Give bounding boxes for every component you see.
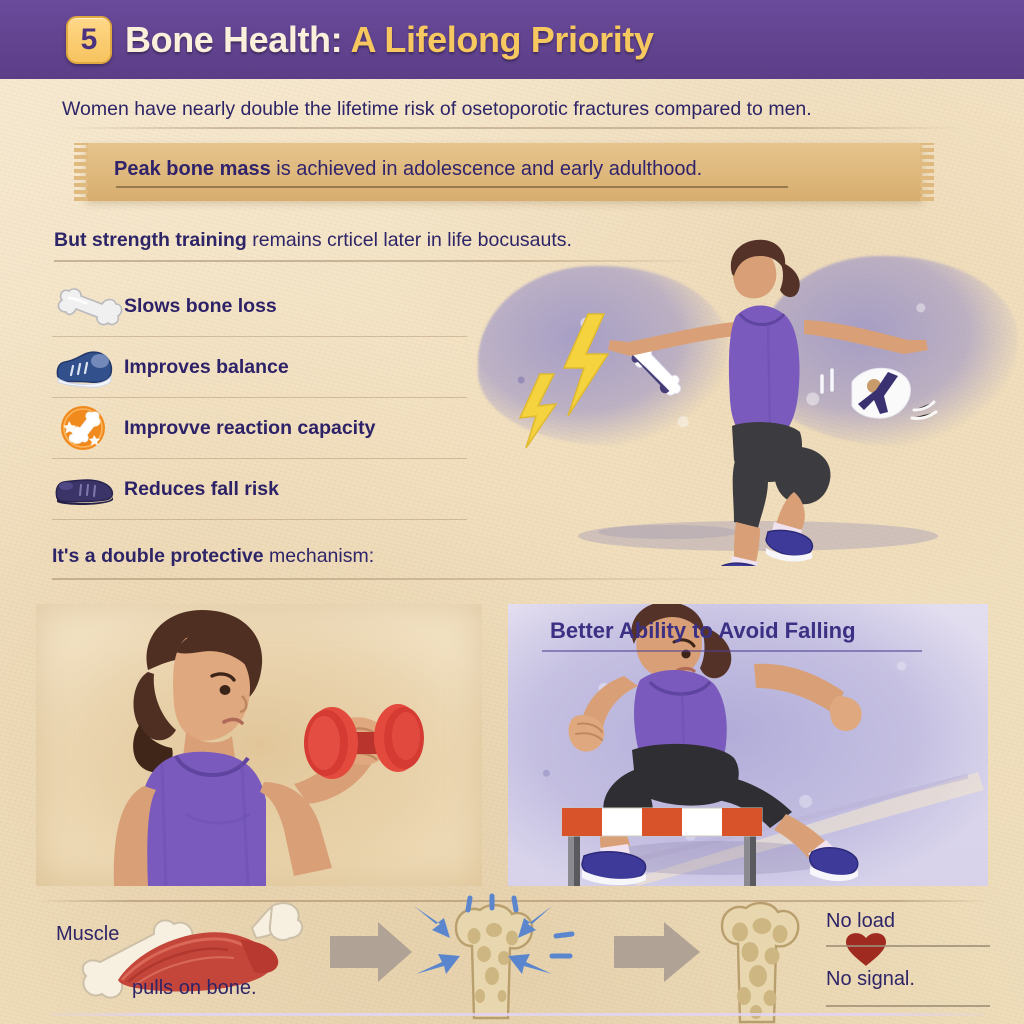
highlight-rest: is achieved in adolescence and early adu… [271,158,702,180]
bolt-icon-2 [520,374,556,448]
list-item: Slows bone loss [52,276,467,337]
no-load-label: No load [826,910,895,933]
list-item-label: Improves balance [124,356,289,379]
mechanism-divider [52,578,752,580]
mechanism-rest: mechanism: [264,545,375,567]
section-number-badge: 5 [66,16,112,64]
infographic-poster: 5 Bone Health: A Lifelong Priority Women… [0,0,1024,1024]
list-item: Improves balance [52,337,467,398]
list-item-label: Improvve reaction capacity [124,417,375,440]
porous-bone-illustration [722,903,798,1022]
dumbbell-illustration-panel [36,604,482,886]
title-secondary: A Lifelong Priority [351,19,654,60]
hurdle-panel-title-rule [542,650,922,652]
benefits-list: Slows bone loss Improves balance [52,276,467,520]
lead-rest: remains crticel later in life bocusauts. [247,229,572,251]
mechanism-flow-strip: Muscle pulls on bone. No load No signal. [0,900,1024,1024]
bolt-icon [564,314,608,416]
list-item: Improvve reaction capacity [52,398,467,459]
intro-divider [62,127,962,129]
balance-figure [468,236,1024,566]
flow-arrow-1 [330,922,412,982]
balance-illustration-panel [468,236,1024,566]
heart-icon [846,933,886,966]
highlight-bold: Peak bone mass [114,158,271,180]
lead-statement: But strength training remains crticel la… [54,229,572,252]
shoe-icon [52,466,124,512]
list-item: Reduces fall risk [52,459,467,520]
woman-with-dumbbell [36,604,482,886]
woman-jumping-hurdle [508,604,988,886]
bone-burst-icon [52,405,124,451]
mechanism-statement: It's a double protective mechanism: [52,545,374,568]
list-item-label: Slows bone loss [124,295,277,318]
falling-person-icon [822,368,936,418]
hurdle-illustration-panel: Better Ability to Avoid Falling [508,604,988,886]
no-signal-label: No signal. [826,968,915,991]
intro-statement: Women have nearly double the lifetime ri… [62,98,962,121]
flow-arrow-2 [614,922,700,982]
loaded-bone-illustration [414,896,572,1018]
bone-icon [52,283,124,329]
lead-bold: But strength training [54,229,247,251]
list-item-label: Reduces fall risk [124,478,279,501]
header-divider [50,1013,984,1016]
mechanism-bold: It's a double protective [52,545,264,567]
page-title: Bone Health: A Lifelong Priority [125,19,654,61]
hurdle-panel-title: Better Ability to Avoid Falling [550,618,856,644]
muscle-label: Muscle [56,923,119,946]
pulls-on-bone-label: pulls on bone. [132,977,257,1000]
highlight-text: Peak bone mass is achieved in adolescenc… [114,158,934,181]
poster-header: 5 Bone Health: A Lifelong Priority [0,0,1024,79]
sneaker-icon [52,344,124,390]
title-primary: Bone Health: [125,19,342,60]
highlight-underline [116,186,788,188]
